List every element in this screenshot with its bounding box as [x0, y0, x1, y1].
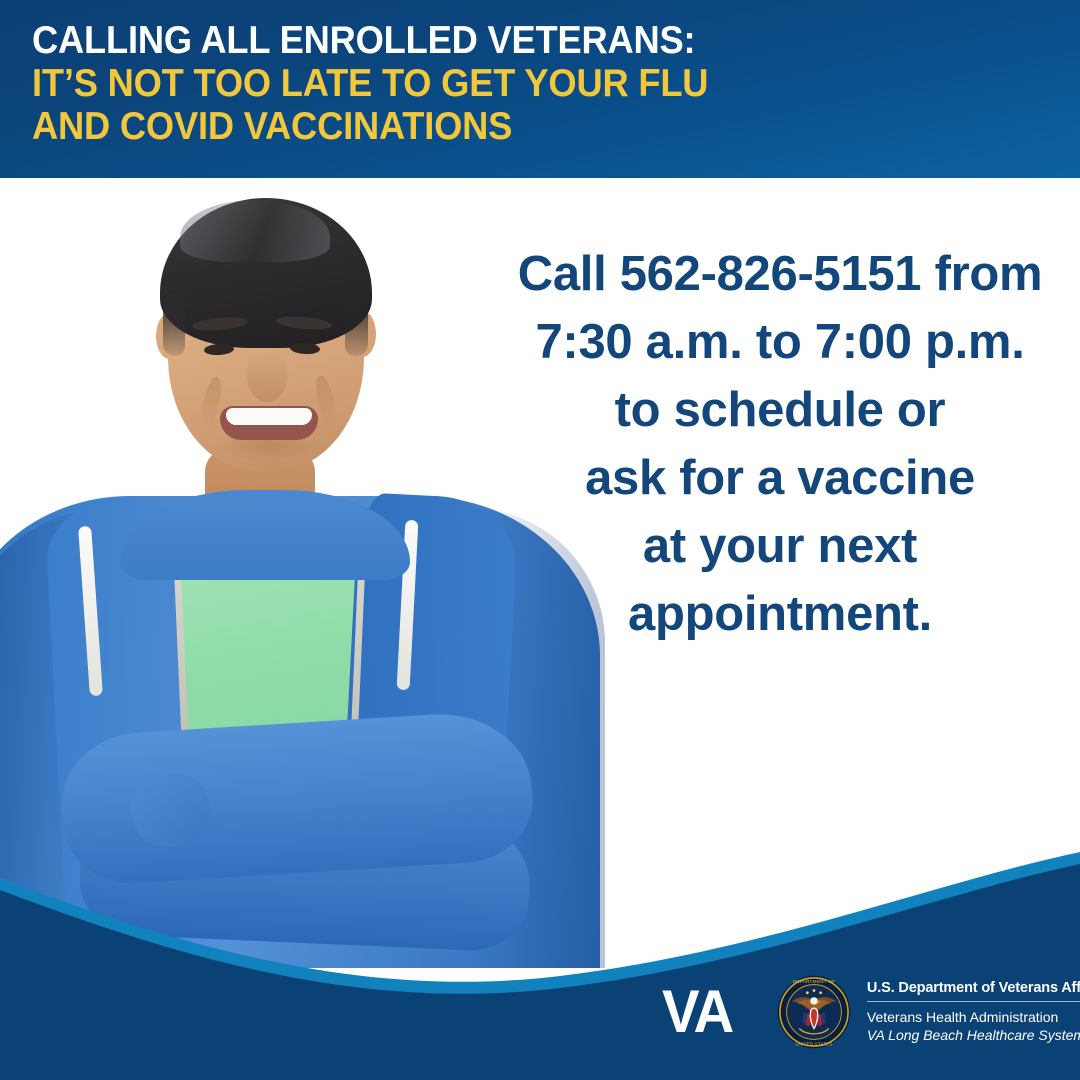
teeth: [226, 408, 312, 425]
headline-block: CALLING ALL ENROLLED VETERANS: IT’S NOT …: [32, 19, 1052, 148]
agency-text-block: U.S. Department of Veterans Affairs Vete…: [867, 980, 1080, 1044]
poster-canvas: CALLING ALL ENROLLED VETERANS: IT’S NOT …: [0, 0, 1080, 1080]
agency-line-1: Veterans Health Administration: [867, 1008, 1080, 1026]
message-line-6: appointment.: [500, 580, 1060, 648]
message-line-2: 7:30 a.m. to 7:00 p.m.: [500, 308, 1060, 376]
message-line-5: at your next: [500, 512, 1060, 580]
headline-line-3: AND COVID VACCINATIONS: [32, 105, 981, 148]
headline-line-1: CALLING ALL ENROLLED VETERANS:: [32, 19, 981, 62]
va-seal-icon: DEPARTMENT OF UNITED STATES: [777, 975, 851, 1049]
header-banner: CALLING ALL ENROLLED VETERANS: IT’S NOT …: [0, 0, 1080, 178]
sideburn-right: [345, 292, 368, 356]
mouth: [220, 406, 318, 440]
nose: [247, 350, 287, 402]
svg-text:UNITED STATES: UNITED STATES: [795, 1041, 832, 1046]
message-line-3: to schedule or: [500, 376, 1060, 444]
va-wordmark: VA: [662, 982, 732, 1042]
agency-divider-rule: [867, 1001, 1080, 1002]
svg-text:DEPARTMENT OF: DEPARTMENT OF: [793, 979, 836, 985]
message-line-1: Call 562-826-5151 from: [500, 240, 1060, 308]
va-logo-lockup: VA DEPARTMENT OF UNITED STATES: [662, 962, 1072, 1062]
sideburn-left: [163, 294, 185, 356]
message-line-4: ask for a vaccine: [500, 444, 1060, 512]
call-to-action-message: Call 562-826-5151 from 7:30 a.m. to 7:00…: [500, 240, 1060, 648]
agency-title: U.S. Department of Veterans Affairs: [867, 980, 1080, 996]
headline-line-2: IT’S NOT TOO LATE TO GET YOUR FLU: [32, 62, 981, 105]
agency-line-2: VA Long Beach Healthcare System: [867, 1026, 1080, 1044]
